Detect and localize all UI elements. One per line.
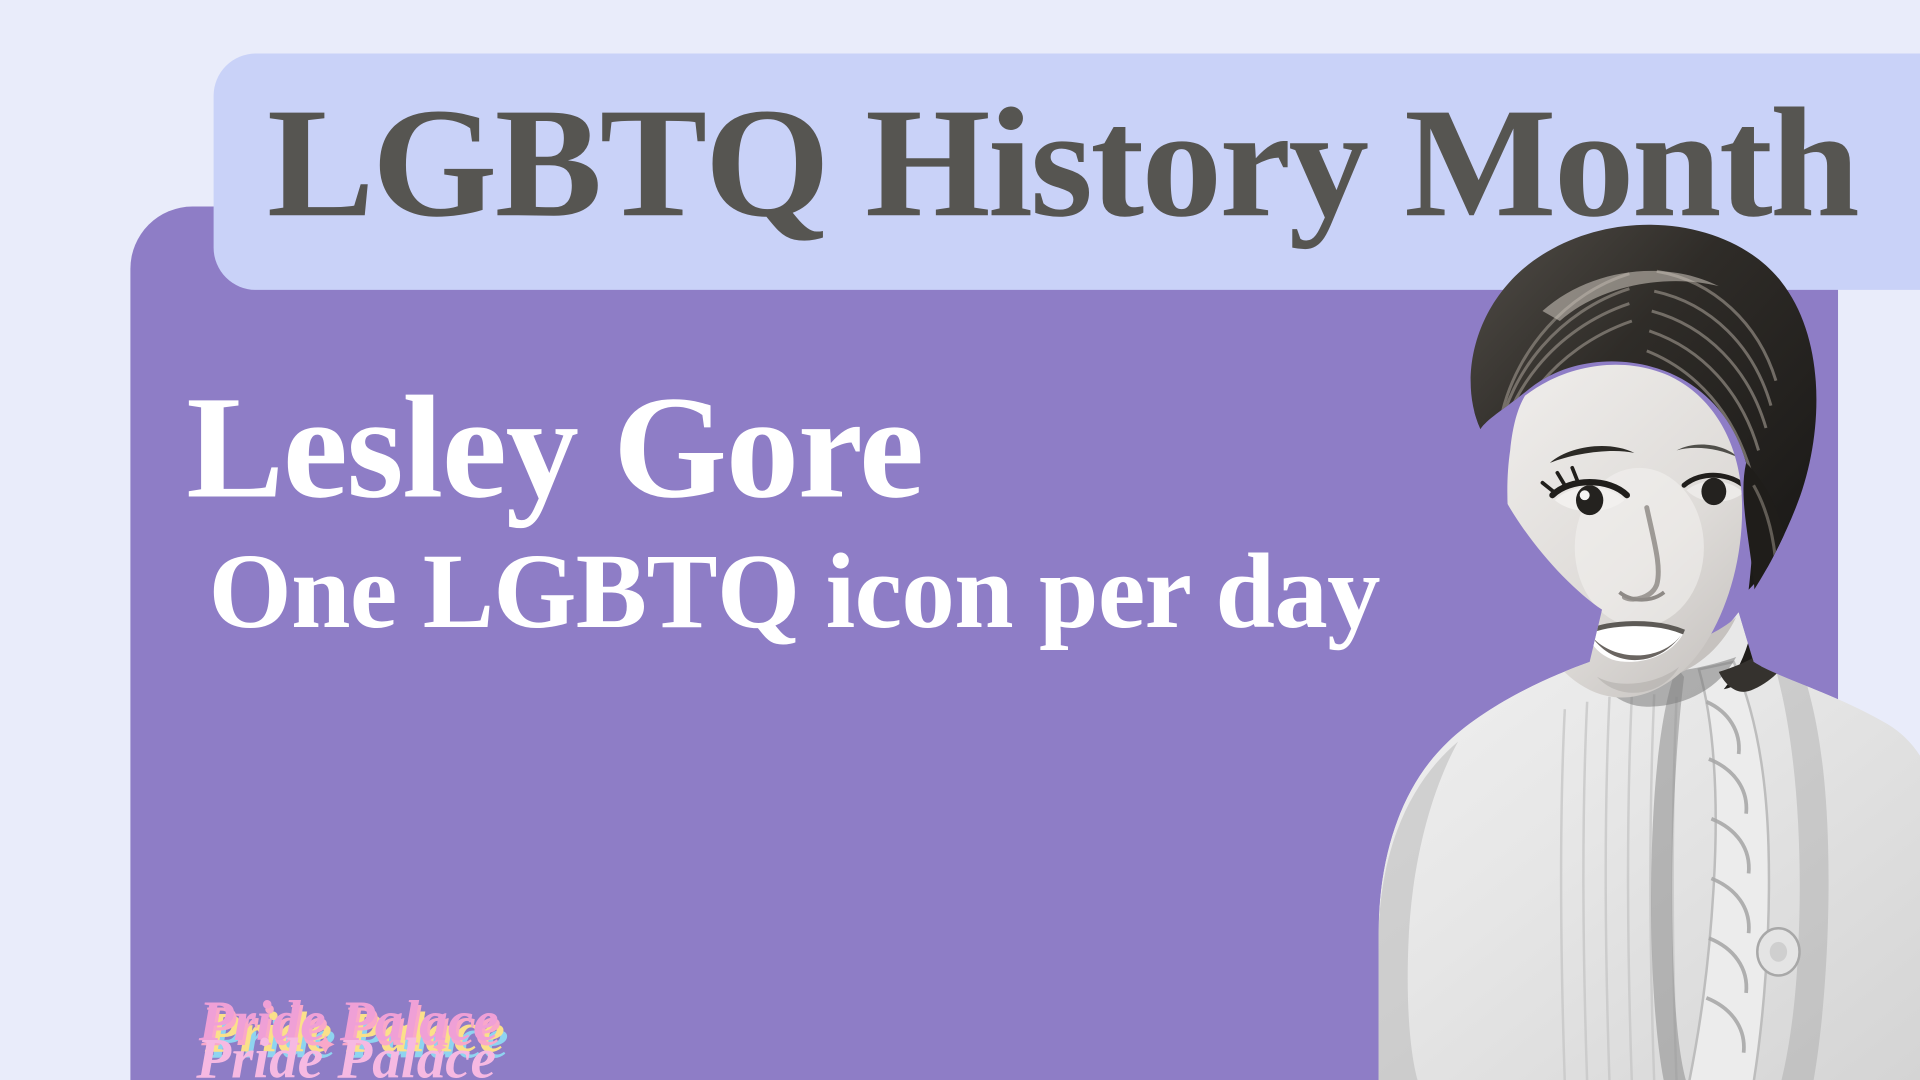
logo-wordmark: Pride Palace: [195, 1027, 496, 1080]
header-banner: LGBTQ History Month: [214, 54, 1920, 290]
poster-stage: LGBTQ History Month Lesley Gore One LGBT…: [0, 0, 1920, 1080]
content-card: [130, 207, 1838, 1080]
brand-logo[interactable]: Pride Palace Pride Palace Pride Palace P…: [196, 1028, 482, 1080]
page-title: LGBTQ History Month: [267, 86, 1857, 243]
poster-canvas: LGBTQ History Month Lesley Gore One LGBT…: [0, 0, 1920, 1080]
